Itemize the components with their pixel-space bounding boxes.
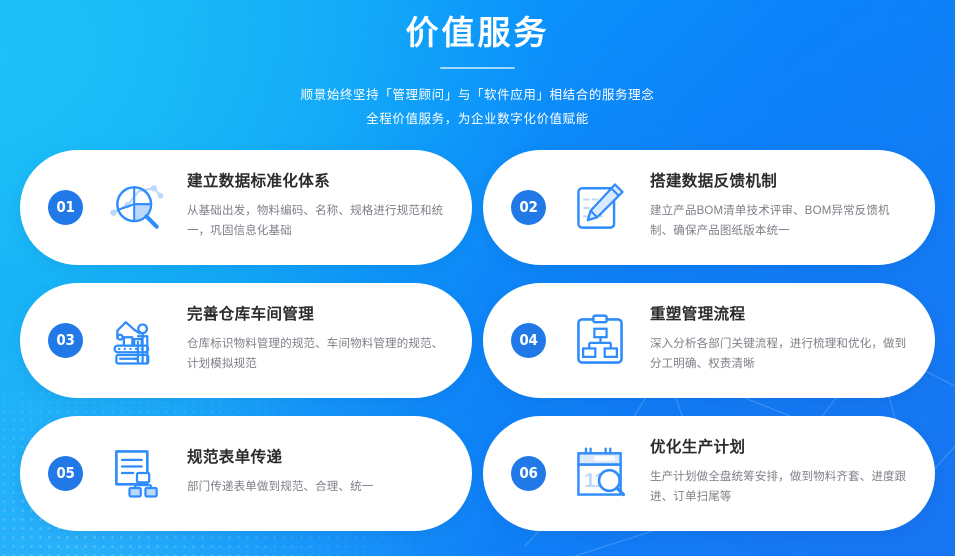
service-card[interactable]: 01 建立数据标准化体系 从基础出发，物料编码、名称、规格进行规范和统一，巩固信…: [20, 150, 472, 265]
subtitle-line-1: 顺景始终坚持「管理顾问」与「软件应用」相结合的服务理念: [128, 83, 828, 107]
factory-conveyor-worker-icon: [105, 308, 169, 372]
card-number-badge: 06: [511, 456, 546, 491]
document-flowchart-icon: [105, 441, 169, 505]
card-number-badge: 01: [48, 190, 83, 225]
card-number-badge: 04: [511, 323, 546, 358]
page-header: 价值服务 顺景始终坚持「管理顾问」与「软件应用」相结合的服务理念 全程价值服务，…: [0, 0, 955, 132]
card-description: 仓库标识物料管理的规范、车间物料管理的规范、计划模拟规范: [187, 334, 446, 374]
service-card[interactable]: 04 重塑管理流程 深入分析各部门关键流程，进行梳理和优化，做到分工明确、权责清…: [483, 283, 935, 398]
card-title: 搭建数据反馈机制: [650, 173, 909, 192]
service-card[interactable]: 05 规范表单传递 部门传递表单做到规范、合理、统一: [20, 416, 472, 531]
card-description: 部门传递表单做到规范、合理、统一: [187, 477, 446, 497]
clipboard-hierarchy-icon: [568, 308, 632, 372]
card-title: 重塑管理流程: [650, 306, 909, 325]
service-card[interactable]: 03: [20, 283, 472, 398]
service-card[interactable]: 06 11 优化生产计划 生产计划做全盘统筹安排，做到物料齐套、进度跟进、订单扫…: [483, 416, 935, 531]
document-pencil-icon: [568, 175, 632, 239]
card-text: 规范表单传递 部门传递表单做到规范、合理、统一: [187, 449, 472, 497]
card-title: 建立数据标准化体系: [187, 173, 446, 192]
service-card-grid: 01 建立数据标准化体系 从基础出发，物料编码、名称、规格进行规范和统一，巩固信…: [20, 150, 935, 531]
card-text: 完善仓库车间管理 仓库标识物料管理的规范、车间物料管理的规范、计划模拟规范: [187, 306, 472, 374]
card-text: 优化生产计划 生产计划做全盘统筹安排，做到物料齐套、进度跟进、订单扫尾等: [650, 439, 935, 507]
subtitle-line-2: 全程价值服务，为企业数字化价值赋能: [128, 107, 828, 131]
page-subtitle: 顺景始终坚持「管理顾问」与「软件应用」相结合的服务理念 全程价值服务，为企业数字…: [128, 83, 828, 132]
card-description: 建立产品BOM清单技术评审、BOM异常反馈机制、确保产品图纸版本统一: [650, 201, 909, 241]
title-divider: [440, 67, 515, 69]
card-title: 完善仓库车间管理: [187, 306, 446, 325]
calendar-magnifier-icon: 11: [568, 441, 632, 505]
card-number-badge: 02: [511, 190, 546, 225]
card-description: 生产计划做全盘统筹安排，做到物料齐套、进度跟进、订单扫尾等: [650, 467, 909, 507]
card-description: 从基础出发，物料编码、名称、规格进行规范和统一，巩固信息化基础: [187, 201, 446, 241]
card-title: 规范表单传递: [187, 449, 446, 468]
card-text: 建立数据标准化体系 从基础出发，物料编码、名称、规格进行规范和统一，巩固信息化基…: [187, 173, 472, 241]
service-card[interactable]: 02 搭建数据反馈机制 建立产品BOM清单技术评审、BOM异常反馈机制、确保产品…: [483, 150, 935, 265]
card-number-badge: 05: [48, 456, 83, 491]
card-title: 优化生产计划: [650, 439, 909, 458]
page-title: 价值服务: [0, 8, 955, 55]
card-number-badge: 03: [48, 323, 83, 358]
card-text: 搭建数据反馈机制 建立产品BOM清单技术评审、BOM异常反馈机制、确保产品图纸版…: [650, 173, 935, 241]
card-description: 深入分析各部门关键流程，进行梳理和优化，做到分工明确、权责清晰: [650, 334, 909, 374]
pie-chart-magnifier-icon: [105, 175, 169, 239]
card-text: 重塑管理流程 深入分析各部门关键流程，进行梳理和优化，做到分工明确、权责清晰: [650, 306, 935, 374]
